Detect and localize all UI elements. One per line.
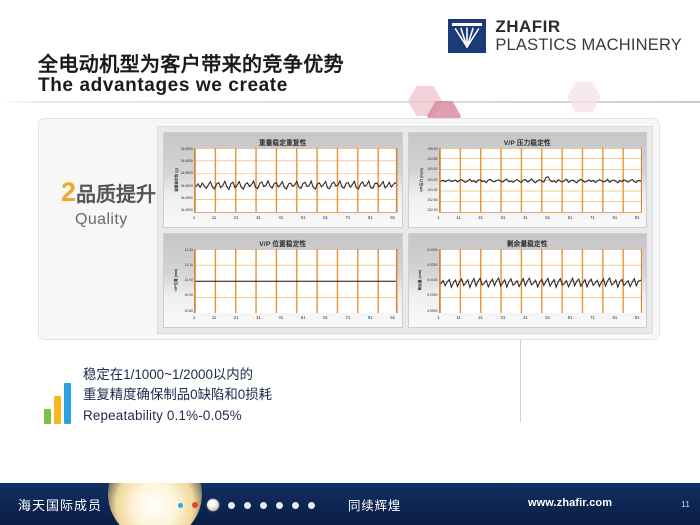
- chart-y-ticks-3: 11.2011.1011.0010.9010.80: [172, 249, 193, 314]
- chart-card-4: 剩余量稳定性剩余量 (mm)5.03005.02005.01005.00004.…: [408, 233, 648, 329]
- chart-y-ticks-2: 105.00104.50104.00103.50103.00102.50102.…: [417, 148, 438, 213]
- y-tick-label: 103.50: [427, 179, 437, 182]
- y-tick-label: 11.20: [185, 249, 193, 252]
- callout-line-2: 重复精度确保制品0缺陷和0损耗: [83, 385, 272, 405]
- x-tick-label: 1: [437, 315, 439, 325]
- chart-title-3: V/P 位置稳定性: [164, 238, 402, 248]
- y-tick-label: 102.50: [427, 199, 437, 202]
- y-tick-label: 34.4500: [181, 197, 193, 200]
- x-tick-label: 31: [256, 215, 261, 225]
- quality-badge-number: 2: [61, 179, 76, 206]
- x-tick-label: 51: [545, 315, 550, 325]
- x-tick-label: 71: [346, 215, 351, 225]
- bar-chart-icon-bar-3: [64, 383, 71, 424]
- charts-grid: 重量稳定重复性重量稳定性 (g)34.650034.600034.550034.…: [163, 132, 647, 328]
- brand-logo: ZHAFIR PLASTICS MACHINERY: [448, 18, 682, 54]
- x-tick-label: 1: [193, 315, 195, 325]
- y-tick-label: 104.50: [427, 158, 437, 161]
- chart-card-1: 重量稳定重复性重量稳定性 (g)34.650034.600034.550034.…: [163, 132, 403, 228]
- x-tick-label: 71: [346, 315, 351, 325]
- chart-y-ticks-4: 5.03005.02005.01005.00004.9900: [417, 249, 438, 314]
- x-tick-label: 11: [212, 315, 216, 325]
- x-tick-label: 21: [478, 315, 483, 325]
- x-tick-label: 71: [590, 215, 595, 225]
- x-tick-label: 91: [390, 215, 395, 225]
- x-tick-label: 81: [368, 215, 373, 225]
- footer-dot-9-white-icon: [308, 502, 315, 509]
- callout-leader-line: [520, 340, 521, 422]
- y-tick-label: 105.00: [427, 148, 437, 151]
- content-panel: 2 品质提升 Quality 重量稳定重复性重量稳定性 (g)34.650034…: [38, 118, 660, 340]
- x-tick-label: 51: [545, 215, 550, 225]
- footer-dot-5-white-icon: [244, 502, 251, 509]
- x-tick-label: 41: [279, 315, 284, 325]
- footer-page-number: 11: [681, 499, 690, 509]
- y-tick-label: 11.00: [185, 279, 193, 282]
- y-tick-label: 10.80: [185, 310, 194, 313]
- y-tick-label: 34.6500: [181, 148, 193, 151]
- x-tick-label: 1: [437, 215, 439, 225]
- y-tick-label: 5.0100: [427, 279, 437, 282]
- callout-line-3: Repeatability 0.1%-0.05%: [83, 406, 272, 426]
- chart-plot-area-2: [439, 148, 643, 213]
- y-tick-label: 34.5500: [181, 172, 193, 175]
- x-tick-label: 31: [256, 315, 261, 325]
- callout-block: 稳定在1/1000~1/2000以内的 重复精度确保制品0缺陷和0损耗 Repe…: [44, 365, 272, 426]
- y-tick-label: 34.4000: [181, 209, 193, 212]
- quality-badge: 2 品质提升 Quality: [61, 179, 157, 229]
- chart-x-ticks-1: 1112131415161718191: [194, 215, 398, 225]
- x-tick-label: 51: [301, 215, 306, 225]
- chart-plot-area-3: [194, 249, 398, 314]
- callout-line-1: 稳定在1/1000~1/2000以内的: [83, 365, 272, 385]
- slide-title-en: The advantages we create: [38, 75, 288, 97]
- chart-x-ticks-2: 1112131415161718191: [439, 215, 643, 225]
- footer-dot-1-blue-icon: [178, 503, 183, 508]
- x-tick-label: 61: [568, 315, 573, 325]
- x-tick-label: 61: [323, 215, 328, 225]
- bar-chart-icon-bar-2: [54, 396, 61, 424]
- footer-dot-6-white-icon: [260, 502, 267, 509]
- y-tick-label: 5.0200: [427, 264, 437, 267]
- x-tick-label: 31: [501, 215, 506, 225]
- y-tick-label: 5.0000: [427, 294, 437, 297]
- footer-mid-text: 同续辉煌: [348, 495, 401, 514]
- quality-badge-label-en: Quality: [61, 211, 157, 229]
- chart-x-ticks-3: 1112131415161718191: [194, 315, 398, 325]
- footer-website-url[interactable]: www.zhafir.com: [528, 497, 612, 509]
- x-tick-label: 21: [234, 315, 239, 325]
- x-tick-label: 1: [193, 215, 195, 225]
- x-tick-label: 61: [568, 215, 573, 225]
- chart-title-4: 剩余量稳定性: [409, 238, 647, 248]
- chart-plot-area-4: [439, 249, 643, 314]
- y-tick-label: 34.6000: [181, 160, 193, 163]
- x-tick-label: 21: [234, 215, 239, 225]
- footer-left-text: 海天国际成员: [18, 495, 102, 514]
- x-tick-label: 21: [478, 215, 483, 225]
- chart-plot-area-1: [194, 148, 398, 213]
- quality-badge-line1: 2 品质提升: [61, 179, 157, 206]
- x-tick-label: 41: [279, 215, 284, 225]
- chart-card-2: V/P 压力稳定性V/P压力 (mpa)105.00104.50104.0010…: [408, 132, 648, 228]
- x-tick-label: 81: [613, 215, 618, 225]
- footer-dot-7-white-icon: [276, 502, 283, 509]
- zhafir-fan-logo-icon: [448, 19, 486, 53]
- x-tick-label: 11: [456, 315, 460, 325]
- chart-card-3: V/P 位置稳定性V/P位置 (mm)11.2011.1011.0010.901…: [163, 233, 403, 329]
- footer-dot-3-globe-icon: [207, 499, 219, 511]
- y-tick-label: 103.00: [427, 189, 437, 192]
- x-tick-label: 51: [301, 315, 306, 325]
- y-tick-label: 34.5000: [181, 185, 193, 188]
- y-tick-label: 10.90: [185, 294, 194, 297]
- footer-dot-4-white-icon: [228, 502, 235, 509]
- x-tick-label: 71: [590, 315, 595, 325]
- x-tick-label: 91: [635, 315, 640, 325]
- footer-dot-2-red-icon: [192, 502, 198, 508]
- bar-chart-icon: [44, 384, 71, 426]
- brand-logo-text: ZHAFIR PLASTICS MACHINERY: [495, 18, 682, 54]
- x-tick-label: 41: [523, 215, 528, 225]
- y-tick-label: 4.9900: [427, 310, 437, 313]
- x-tick-label: 11: [212, 215, 216, 225]
- brand-name-line1: ZHAFIR: [495, 18, 682, 35]
- y-tick-label: 11.10: [185, 264, 193, 267]
- charts-image-frame: 重量稳定重复性重量稳定性 (g)34.650034.600034.550034.…: [157, 126, 653, 334]
- chart-title-2: V/P 压力稳定性: [409, 137, 647, 147]
- x-tick-label: 31: [501, 315, 506, 325]
- x-tick-label: 91: [390, 315, 395, 325]
- y-tick-label: 5.0300: [427, 249, 437, 252]
- slide-title-zh: 全电动机型为客户带来的竞争优势: [38, 48, 344, 77]
- footer-dot-8-white-icon: [292, 502, 299, 509]
- x-tick-label: 11: [456, 215, 460, 225]
- bar-chart-icon-bar-1: [44, 409, 51, 424]
- footer-dot-row: [178, 499, 315, 511]
- x-tick-label: 81: [613, 315, 618, 325]
- x-tick-label: 61: [323, 315, 328, 325]
- chart-x-ticks-4: 1112131415161718191: [439, 315, 643, 325]
- chart-title-1: 重量稳定重复性: [164, 137, 402, 147]
- callout-text: 稳定在1/1000~1/2000以内的 重复精度确保制品0缺陷和0损耗 Repe…: [83, 365, 272, 426]
- brand-name-line2: PLASTICS MACHINERY: [495, 37, 682, 54]
- chart-y-ticks-1: 34.650034.600034.550034.500034.450034.40…: [172, 148, 193, 213]
- x-tick-label: 81: [368, 315, 373, 325]
- y-tick-label: 104.00: [427, 168, 437, 171]
- quality-badge-label-zh: 品质提升: [76, 185, 156, 205]
- y-tick-label: 102.00: [427, 209, 437, 212]
- x-tick-label: 41: [523, 315, 528, 325]
- x-tick-label: 91: [635, 215, 640, 225]
- slide-footer: 海天国际成员 同续辉煌 www.zhafir.com 11: [0, 483, 700, 525]
